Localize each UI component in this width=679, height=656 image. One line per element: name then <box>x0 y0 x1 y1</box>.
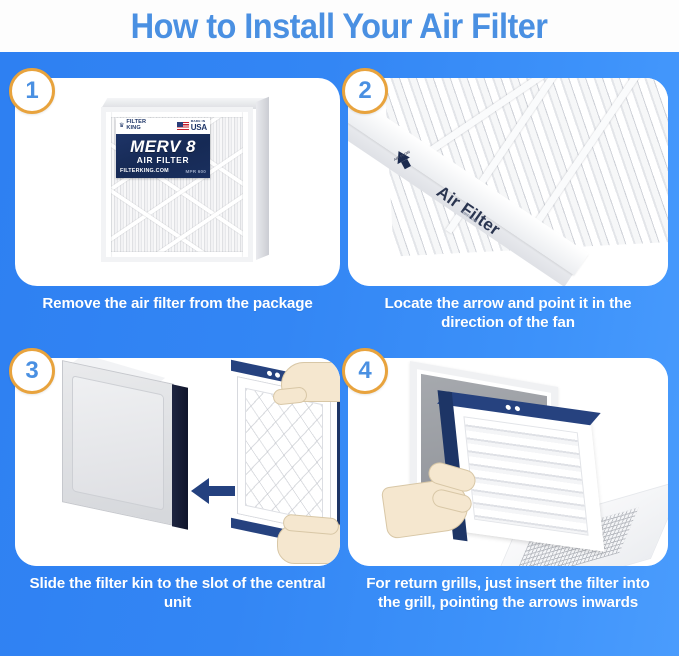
step-2-image-card: AIR FLOW Air Filter AIRFLOW <box>348 78 668 286</box>
filter-right-edge <box>256 97 269 260</box>
step-number-4: 4 <box>358 359 371 383</box>
step-badge-3: 3 <box>9 348 55 394</box>
step-caption-1: Remove the air filter from the package <box>15 294 340 313</box>
label-footer-strip: FILTERKING.COM MPR 600 <box>120 168 206 174</box>
central-unit-slot <box>72 375 164 511</box>
filter-corner-photo: AIR FLOW Air Filter AIRFLOW <box>348 78 668 286</box>
title-bar: How to Install Your Air Filter <box>0 0 679 52</box>
filter-front-face: ♛ FILTER KING MADE IN USA <box>101 107 253 262</box>
step-number-1: 1 <box>25 79 38 103</box>
usa-text-block: MADE IN USA <box>191 120 207 131</box>
slide-filter-illustration <box>15 358 340 566</box>
grill-louvers <box>463 416 588 535</box>
central-unit-body <box>62 360 174 526</box>
hand-inserting-filter <box>384 462 480 538</box>
country-label: USA <box>191 124 207 132</box>
brand-name: FILTER KING <box>126 120 146 131</box>
step-1-image-card: ♛ FILTER KING MADE IN USA <box>15 78 340 286</box>
made-in-usa-badge: MADE IN USA <box>177 120 207 131</box>
usa-flag-icon <box>177 122 189 130</box>
crown-icon: ♛ <box>119 123 124 129</box>
brand-line-2: KING <box>126 125 140 131</box>
hand-upper <box>273 362 340 418</box>
step-panel-2: AIR FLOW Air Filter AIRFLOW 2 Locate the… <box>348 78 668 368</box>
step-badge-4: 4 <box>342 348 388 394</box>
return-grill-illustration <box>348 358 668 566</box>
website-text: FILTERKING.COM <box>120 168 169 174</box>
label-header-strip: ♛ FILTER KING MADE IN USA <box>116 118 210 134</box>
left-arrow-icon <box>191 478 235 504</box>
step-caption-2: Locate the arrow and point it in the dir… <box>348 294 668 333</box>
mpr-rating-text: MPR 600 <box>185 169 206 174</box>
product-type-text: AIR FILTER <box>116 156 210 164</box>
air-filter-product-photo: ♛ FILTER KING MADE IN USA <box>93 98 269 270</box>
brand-lockup: ♛ FILTER KING <box>119 120 146 131</box>
step-panel-4: 4 For return grills, just insert the fil… <box>348 358 668 650</box>
step-caption-3: Slide the filter kin to the slot of the … <box>15 574 340 613</box>
step-4-image-card <box>348 358 668 566</box>
step-3-image-card <box>15 358 340 566</box>
step-panel-1: ♛ FILTER KING MADE IN USA <box>15 78 340 368</box>
step-number-3: 3 <box>25 359 38 383</box>
infographic-body: ♛ FILTER KING MADE IN USA <box>0 52 679 656</box>
step-number-2: 2 <box>358 79 371 103</box>
page-title: How to Install Your Air Filter <box>131 9 548 44</box>
filter-product-label: ♛ FILTER KING MADE IN USA <box>116 118 210 178</box>
step-badge-2: 2 <box>342 68 388 114</box>
hand-lower <box>271 516 340 566</box>
central-unit-side <box>172 384 188 529</box>
step-badge-1: 1 <box>9 68 55 114</box>
step-panel-3: 3 Slide the filter kin to the slot of th… <box>15 358 340 650</box>
merv-rating-text: MERV 8 <box>116 138 210 155</box>
step-caption-4: For return grills, just insert the filte… <box>348 574 668 613</box>
